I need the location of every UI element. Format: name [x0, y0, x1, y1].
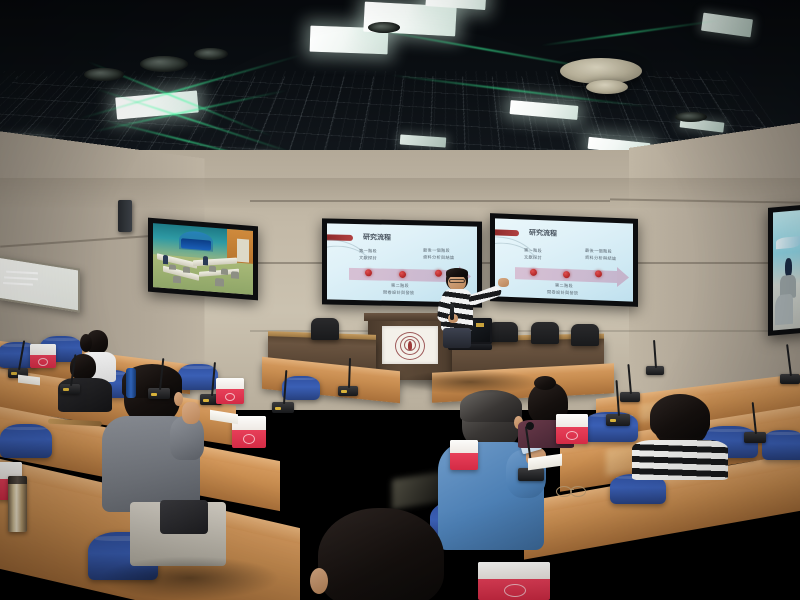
audience-chair: [762, 430, 800, 460]
presenter-arm-pointing: [467, 285, 503, 307]
floor-shadow: [400, 370, 540, 394]
lunch-box: [478, 562, 550, 600]
presenter-hair: [446, 268, 468, 277]
presenter-hand: [498, 278, 509, 287]
lunch-box-lid: [30, 344, 56, 355]
signage-figure-arm: [775, 293, 793, 325]
eyeglasses-on-desk: [570, 486, 586, 497]
audience-chair: [0, 424, 52, 458]
cctv-chair: [209, 266, 216, 272]
cctv-chair: [173, 276, 181, 284]
ceiling-fan: [586, 80, 628, 94]
thermos-flask: [8, 476, 27, 532]
thermos-cap: [8, 476, 27, 484]
presenter-glasses: [449, 279, 465, 283]
handheld-microphone: [450, 304, 454, 320]
stage-chair: [531, 322, 559, 344]
lunch-box-logo: [225, 393, 235, 401]
lecture-hall-photo: 研究流程 第一階段 文獻探討 第二階段 問卷設計與發放 最後一個階段 資料分析與…: [0, 0, 800, 600]
attendee-hair-ponytail: [80, 334, 92, 352]
lunch-box-logo: [38, 358, 48, 366]
microphone-capsule: [526, 422, 534, 430]
timeline-label-2-line2: 問卷設計與發放: [383, 290, 414, 297]
lunch-box-lid: [478, 562, 550, 579]
attendee-striped-back: [636, 396, 746, 482]
cctv-screen: [153, 223, 253, 295]
microphone-led: [610, 419, 616, 422]
ceiling-speaker-diffuser: [368, 22, 400, 33]
timeline-label-1-line2: 文獻探討: [524, 254, 542, 261]
microphone-led: [341, 390, 347, 393]
green-light-reflection: [541, 19, 719, 46]
ceiling-speaker-diffuser: [194, 48, 228, 60]
attendee-torso: [632, 440, 728, 480]
timeline-label-2-line2: 問卷設計與發放: [547, 289, 578, 296]
microphone-led: [11, 372, 17, 375]
audience-chair: [282, 376, 320, 400]
lunch-box-logo: [243, 434, 255, 444]
cctv-feed-display[interactable]: [148, 218, 258, 301]
ceiling-speaker-diffuser: [675, 112, 707, 122]
timeline-label-1-line1: 第一階段: [359, 248, 377, 254]
projection-screen-right[interactable]: 研究流程 第一階段 文獻探討 第二階段 問卷設計與發放 最後一個階段 資料分析與…: [490, 213, 638, 307]
timeline-label-1-line1: 第一階段: [524, 247, 542, 254]
slide-title: 研究流程: [529, 228, 557, 239]
timeline-label-2-line1: 第二階段: [555, 283, 573, 290]
slide-accent-bar: [495, 229, 519, 236]
attendee-foreground: [300, 508, 480, 600]
whiteboard-glare: [4, 276, 38, 280]
attendee-ear: [310, 568, 328, 594]
slide-right: 研究流程 第一階段 文獻探討 第二階段 問卷設計與發放 最後一個階段 資料分析與…: [495, 218, 633, 301]
timeline-dot: [595, 270, 602, 277]
signage-graphic-swoosh: [776, 236, 800, 249]
university-crest-bird: [408, 341, 412, 350]
slide-title: 研究流程: [363, 232, 391, 243]
attendee-hair-greying: [460, 390, 522, 422]
timeline-dot: [530, 269, 537, 276]
wall-seam: [250, 200, 610, 202]
lunch-box: [216, 378, 244, 404]
timeline-label-3-line1: 最後一個階段: [423, 247, 450, 254]
lunch-box: [556, 414, 588, 444]
timeline-label-2-line1: 第二階段: [391, 283, 409, 289]
cctv-chair: [231, 271, 239, 279]
water-bottle: [126, 368, 136, 398]
lunch-box-logo: [504, 584, 526, 597]
lunch-box-lid: [556, 414, 588, 427]
lunch-box: [30, 344, 56, 368]
cctv-chair: [183, 266, 190, 272]
microphone-led: [275, 407, 281, 410]
lunch-box-lid: [450, 440, 478, 453]
lunch-box: [450, 440, 478, 470]
eyeglasses-bridge: [570, 489, 574, 490]
stage-chair: [311, 318, 339, 340]
timeline-dot: [399, 271, 406, 278]
wall-speaker: [118, 200, 132, 232]
microphone-led: [203, 399, 209, 402]
lunch-box-lid: [216, 378, 244, 389]
whiteboard-glare: [3, 282, 33, 286]
cctv-person: [203, 256, 208, 265]
vertical-signage-display[interactable]: [768, 204, 800, 336]
microphone-led: [63, 388, 69, 391]
presenter: [430, 268, 510, 348]
microphone-led: [151, 393, 157, 396]
cctv-person: [163, 255, 168, 264]
timeline-dot: [365, 269, 372, 276]
attendee-head: [318, 508, 444, 600]
timeline-label-3-line2: 資料分析與結論: [585, 255, 616, 262]
floor-shadow: [100, 556, 280, 600]
attendee-hair-bob: [650, 394, 710, 438]
timeline-label-3-line1: 最後一個階段: [585, 248, 612, 255]
attendee-hand-on-chin: [182, 402, 200, 424]
timeline-dot: [563, 271, 570, 278]
ceiling-speaker-diffuser: [140, 56, 188, 72]
cctv-chair: [169, 264, 176, 270]
ceiling-light-panel: [701, 13, 753, 38]
whiteboard-glare: [6, 271, 38, 275]
vertical-signage-screen: [773, 210, 800, 331]
attendee-bag: [160, 500, 208, 534]
lunch-box-logo: [566, 431, 578, 440]
timeline-arrow-head: [617, 267, 629, 287]
attendee-ear: [174, 392, 183, 406]
cctv-chair: [221, 268, 228, 275]
presenter-trousers: [443, 328, 471, 348]
timeline-label-1-line2: 文獻探討: [359, 255, 377, 261]
cctv-chair: [215, 278, 224, 286]
stage-chair: [571, 324, 599, 346]
cctv-cabinet: [237, 239, 249, 263]
ceiling-speaker-diffuser: [84, 68, 124, 81]
timeline-label-3-line2: 資料分析與結論: [423, 254, 454, 261]
